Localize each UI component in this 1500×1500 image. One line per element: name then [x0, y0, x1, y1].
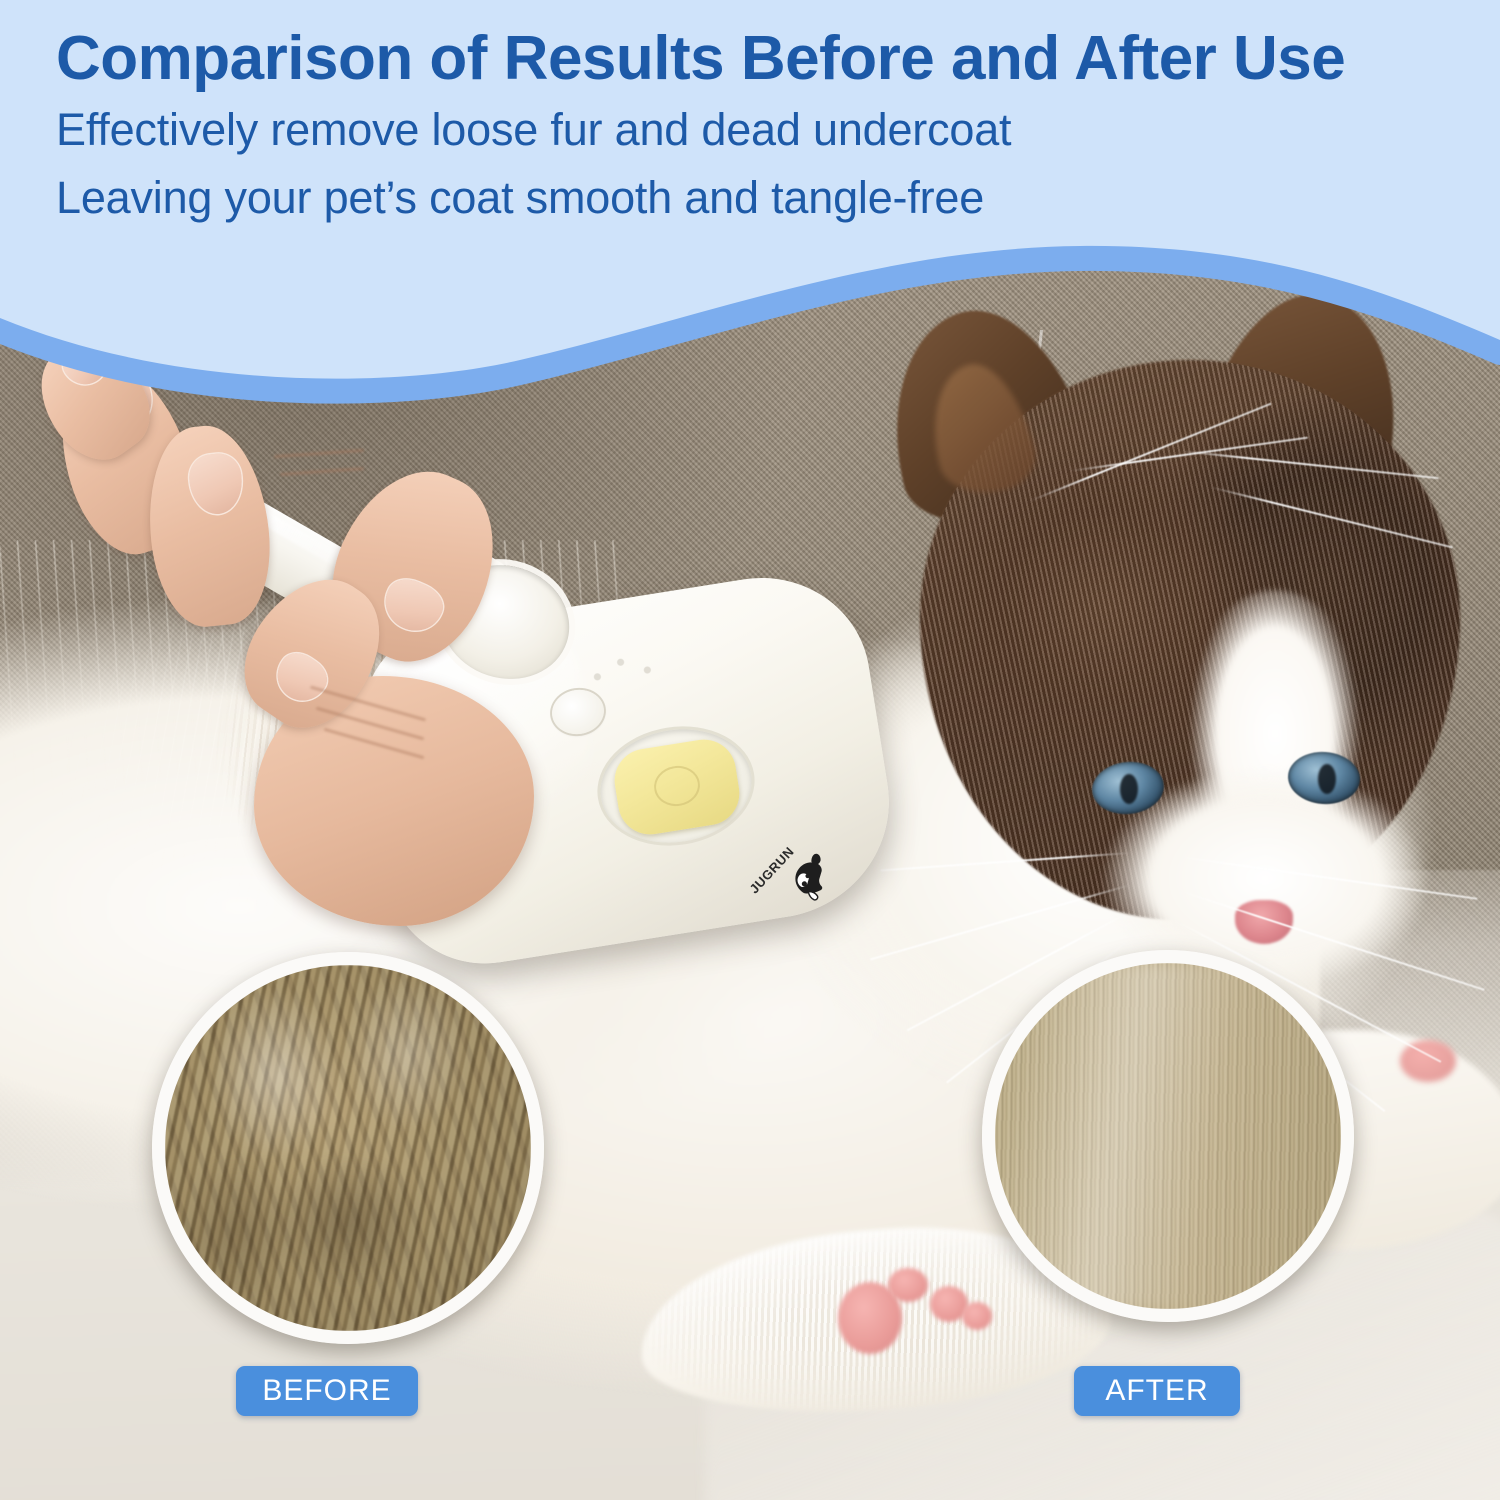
cat-toe-pad — [888, 1268, 928, 1302]
after-fur-sheen — [995, 963, 1341, 1309]
cat-head — [880, 300, 1500, 940]
product-photo: JUGRUN — [0, 0, 1500, 1500]
knuckle-crease — [280, 467, 364, 476]
cat-pupil-left — [1120, 774, 1138, 804]
after-closeup-inset — [982, 950, 1354, 1322]
before-fur-tufts — [165, 965, 531, 1331]
cat-toe-pad — [962, 1302, 992, 1330]
dog-icon — [776, 842, 847, 911]
badge-after: AFTER — [1074, 1366, 1240, 1416]
cat-far-paw-pad — [1400, 1040, 1456, 1082]
badge-before: BEFORE — [236, 1366, 418, 1416]
product-comparison-image: JUGRUN — [0, 0, 1500, 1500]
cat-pupil-right — [1318, 764, 1336, 794]
brand-logo: JUGRUN — [750, 829, 853, 922]
before-closeup-inset — [152, 952, 544, 1344]
human-hand — [40, 330, 510, 690]
knuckle-crease — [274, 449, 364, 458]
